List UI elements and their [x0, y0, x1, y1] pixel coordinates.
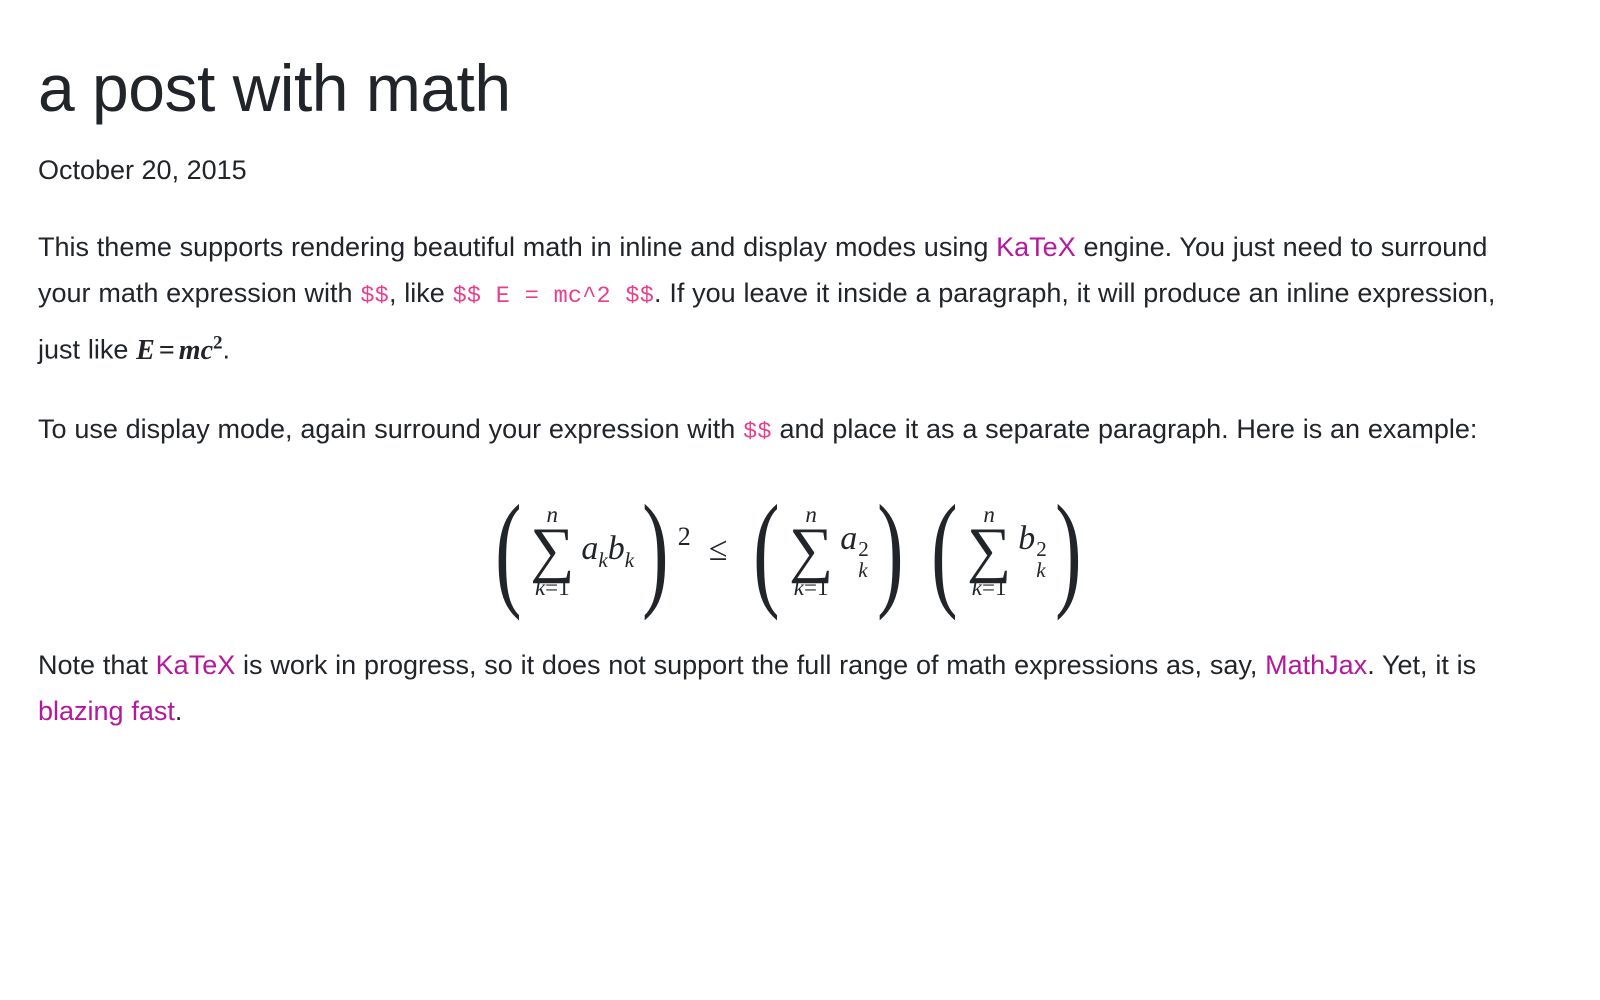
post-date: October 20, 2015: [38, 154, 1562, 186]
sigma-icon: ∑: [967, 524, 1011, 577]
paragraph-text: .: [175, 696, 183, 726]
term-ak-squared: a2k: [840, 520, 869, 582]
code-dollar-delimiters: $$: [360, 283, 389, 310]
paragraph-display-mode: To use display mode, again surround your…: [38, 406, 1538, 456]
paragraph-text: To use display mode, again surround your…: [38, 414, 743, 444]
formula-group-rhs-2: ( n ∑ k=1 b2k ): [923, 500, 1089, 597]
inline-math-rhs-exponent: 2: [213, 332, 223, 353]
sum-lower-limit: k=1: [972, 576, 1007, 599]
sum-lower-limit: k=1: [535, 576, 570, 599]
page-title: a post with math: [38, 52, 1562, 126]
term-b-sup: 2: [1036, 539, 1047, 560]
paragraph-text: Note that: [38, 650, 156, 680]
inline-math-relation: =: [155, 335, 179, 366]
paragraph-text: .: [223, 335, 231, 365]
term-a-subsup: 2k: [858, 539, 869, 582]
formula-group-rhs-1: ( n ∑ k=1 a2k ): [745, 500, 911, 597]
link-blazing-fast[interactable]: blazing fast: [38, 696, 175, 726]
code-emc2-sample: $$ E = mc^2 $$: [453, 283, 654, 310]
display-math-block: ( n ∑ k=1 akbk ) 2 ≤ ( n ∑: [38, 500, 1538, 597]
summation-1: n ∑ k=1: [530, 503, 574, 600]
term-bk-squared: b2k: [1018, 520, 1047, 582]
inline-math-lhs: E: [136, 335, 155, 366]
sum-lower-eq: =: [545, 575, 558, 600]
outer-exponent: 2: [678, 522, 691, 552]
term-a-sup: 2: [858, 539, 869, 560]
term-a-sub: k: [858, 560, 867, 581]
term-b-sub: k: [1036, 560, 1045, 581]
term-b-subsup: 2k: [1036, 539, 1047, 582]
link-mathjax[interactable]: MathJax: [1265, 650, 1367, 680]
summation-3: n ∑ k=1: [967, 503, 1011, 600]
sum-lower-limit: k=1: [794, 576, 829, 599]
paragraph-text: . Yet, it is: [1367, 650, 1476, 680]
paragraph-text: is work in progress, so it does not supp…: [235, 650, 1265, 680]
sum-lower-val: 1: [995, 575, 1007, 600]
paragraph-intro: This theme supports rendering beautiful …: [38, 224, 1538, 373]
term-a: a: [581, 530, 598, 567]
formula-group-lhs: ( n ∑ k=1 akbk ) 2: [487, 500, 691, 597]
inline-math-emc2: E=mc2: [136, 335, 222, 366]
paragraph-text: and place it as a separate paragraph. He…: [772, 414, 1478, 444]
post-body: This theme supports rendering beautiful …: [38, 224, 1538, 734]
relation-leq-icon: ≤: [691, 531, 746, 569]
cauchy-schwarz-formula: ( n ∑ k=1 akbk ) 2 ≤ ( n ∑: [487, 500, 1090, 597]
sigma-icon: ∑: [789, 524, 833, 577]
post-page: a post with math October 20, 2015 This t…: [0, 0, 1600, 734]
paragraph-note: Note that KaTeX is work in progress, so …: [38, 642, 1538, 734]
paragraph-text: , like: [389, 278, 453, 308]
sum-lower-val: 1: [558, 575, 570, 600]
term-b: b: [1018, 520, 1035, 557]
term-b-sub: k: [625, 547, 634, 571]
term-a: a: [840, 520, 857, 557]
term-b: b: [608, 530, 625, 567]
sum-lower-var: k: [535, 575, 545, 600]
link-katex[interactable]: KaTeX: [996, 232, 1076, 262]
sigma-icon: ∑: [530, 524, 574, 577]
sum-lower-eq: =: [982, 575, 995, 600]
code-dollar-delimiters: $$: [743, 419, 772, 446]
summation-2: n ∑ k=1: [789, 503, 833, 600]
link-katex[interactable]: KaTeX: [156, 650, 236, 680]
term-a-sub: k: [598, 547, 607, 571]
sum-lower-val: 1: [817, 575, 829, 600]
inline-math-rhs-base: mc: [179, 335, 213, 366]
term-ak-bk: akbk: [581, 530, 634, 573]
sum-lower-eq: =: [804, 575, 817, 600]
sum-lower-var: k: [972, 575, 982, 600]
sum-lower-var: k: [794, 575, 804, 600]
paragraph-text: This theme supports rendering beautiful …: [38, 232, 996, 262]
